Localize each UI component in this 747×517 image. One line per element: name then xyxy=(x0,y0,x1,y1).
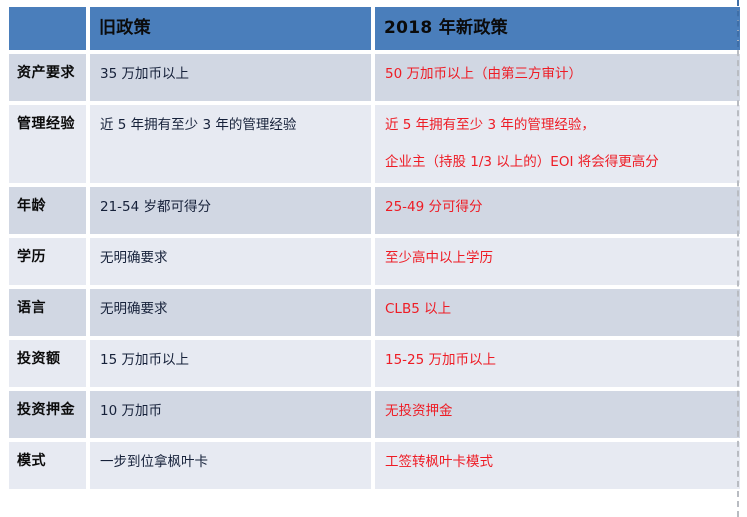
row-new-value-line1: 工签转枫叶卡模式 xyxy=(385,454,493,470)
row-label: 语言 xyxy=(9,289,86,317)
row-label-cell: 语言 xyxy=(9,289,86,336)
page-edge-guide-header xyxy=(737,0,739,47)
row-old-cell: 无明确要求 xyxy=(90,238,371,285)
row-old-value: 一步到位拿枫叶卡 xyxy=(90,442,371,472)
row-new-cell: 近 5 年拥有至少 3 年的管理经验， 企业主（持股 1/3 以上的）EOI 将… xyxy=(375,105,740,183)
row-label-cell: 年龄 xyxy=(9,187,86,234)
row-old-cell: 一步到位拿枫叶卡 xyxy=(90,442,371,489)
header-cell-category xyxy=(9,7,86,50)
row-new-value: 工签转枫叶卡模式 xyxy=(375,442,740,472)
row-new-cell: 工签转枫叶卡模式 xyxy=(375,442,740,489)
table-row: 学历 无明确要求 至少高中以上学历 xyxy=(9,238,740,285)
table-row: 投资额 15 万加币以上 15-25 万加币以上 xyxy=(9,340,740,387)
row-new-value: 50 万加币以上（由第三方审计） xyxy=(375,54,740,84)
row-label-cell: 管理经验 xyxy=(9,105,86,183)
slide-canvas: 旧政策 2018 年新政策 资产要求 35 万加币以上 50 万加币以上（由第三… xyxy=(0,0,747,517)
row-old-value: 近 5 年拥有至少 3 年的管理经验 xyxy=(90,105,371,135)
row-label: 投资押金 xyxy=(9,391,86,419)
row-label: 资产要求 xyxy=(9,54,86,82)
row-label-cell: 学历 xyxy=(9,238,86,285)
row-new-cell: 15-25 万加币以上 xyxy=(375,340,740,387)
row-old-cell: 35 万加币以上 xyxy=(90,54,371,101)
row-label: 模式 xyxy=(9,442,86,470)
row-new-value: 15-25 万加币以上 xyxy=(375,340,740,370)
row-old-cell: 10 万加币 xyxy=(90,391,371,438)
row-label-cell: 投资押金 xyxy=(9,391,86,438)
row-old-value: 21-54 岁都可得分 xyxy=(90,187,371,217)
row-label-cell: 模式 xyxy=(9,442,86,489)
row-old-value: 35 万加币以上 xyxy=(90,54,371,84)
header-cell-new-policy: 2018 年新政策 xyxy=(375,7,740,50)
header-label-old-policy: 旧政策 xyxy=(90,7,371,38)
row-new-cell: 50 万加币以上（由第三方审计） xyxy=(375,54,740,101)
row-new-value-line1: CLB5 以上 xyxy=(385,301,451,317)
row-new-cell: CLB5 以上 xyxy=(375,289,740,336)
row-old-value: 15 万加币以上 xyxy=(90,340,371,370)
table-row: 资产要求 35 万加币以上 50 万加币以上（由第三方审计） xyxy=(9,54,740,101)
row-label: 管理经验 xyxy=(9,105,86,133)
row-new-value-line1: 近 5 年拥有至少 3 年的管理经验， xyxy=(385,117,595,133)
table-header-row: 旧政策 2018 年新政策 xyxy=(9,7,740,50)
row-new-value: 无投资押金 xyxy=(375,391,740,421)
row-label-cell: 资产要求 xyxy=(9,54,86,101)
header-cell-old-policy: 旧政策 xyxy=(90,7,371,50)
page-edge-guide xyxy=(737,0,739,517)
row-new-value-line1: 50 万加币以上（由第三方审计） xyxy=(385,66,582,82)
table-row: 年龄 21-54 岁都可得分 25-49 分可得分 xyxy=(9,187,740,234)
row-old-cell: 近 5 年拥有至少 3 年的管理经验 xyxy=(90,105,371,183)
row-label: 学历 xyxy=(9,238,86,266)
table-row: 管理经验 近 5 年拥有至少 3 年的管理经验 近 5 年拥有至少 3 年的管理… xyxy=(9,105,740,183)
row-new-cell: 25-49 分可得分 xyxy=(375,187,740,234)
row-old-cell: 无明确要求 xyxy=(90,289,371,336)
table-row: 语言 无明确要求 CLB5 以上 xyxy=(9,289,740,336)
row-old-cell: 15 万加币以上 xyxy=(90,340,371,387)
row-new-value-line1: 25-49 分可得分 xyxy=(385,199,483,215)
row-label-cell: 投资额 xyxy=(9,340,86,387)
table-row: 模式 一步到位拿枫叶卡 工签转枫叶卡模式 xyxy=(9,442,740,489)
row-new-value-line1: 15-25 万加币以上 xyxy=(385,352,496,368)
row-new-cell: 无投资押金 xyxy=(375,391,740,438)
policy-comparison-table: 旧政策 2018 年新政策 资产要求 35 万加币以上 50 万加币以上（由第三… xyxy=(5,3,744,493)
row-old-value: 无明确要求 xyxy=(90,238,371,268)
row-label: 年龄 xyxy=(9,187,86,215)
row-new-value-line1: 无投资押金 xyxy=(385,403,453,419)
row-new-cell: 至少高中以上学历 xyxy=(375,238,740,285)
row-new-value-line1: 至少高中以上学历 xyxy=(385,250,493,266)
row-label: 投资额 xyxy=(9,340,86,368)
header-label-category xyxy=(9,7,86,18)
row-new-value: 近 5 年拥有至少 3 年的管理经验， 企业主（持股 1/3 以上的）EOI 将… xyxy=(375,105,740,172)
row-old-value: 无明确要求 xyxy=(90,289,371,319)
row-old-cell: 21-54 岁都可得分 xyxy=(90,187,371,234)
header-label-new-policy: 2018 年新政策 xyxy=(375,7,740,38)
row-new-value: 至少高中以上学历 xyxy=(375,238,740,268)
row-new-value-line2: 企业主（持股 1/3 以上的）EOI 将会得更高分 xyxy=(385,153,732,172)
row-old-value: 10 万加币 xyxy=(90,391,371,421)
table-row: 投资押金 10 万加币 无投资押金 xyxy=(9,391,740,438)
row-new-value: 25-49 分可得分 xyxy=(375,187,740,217)
row-new-value: CLB5 以上 xyxy=(375,289,740,319)
